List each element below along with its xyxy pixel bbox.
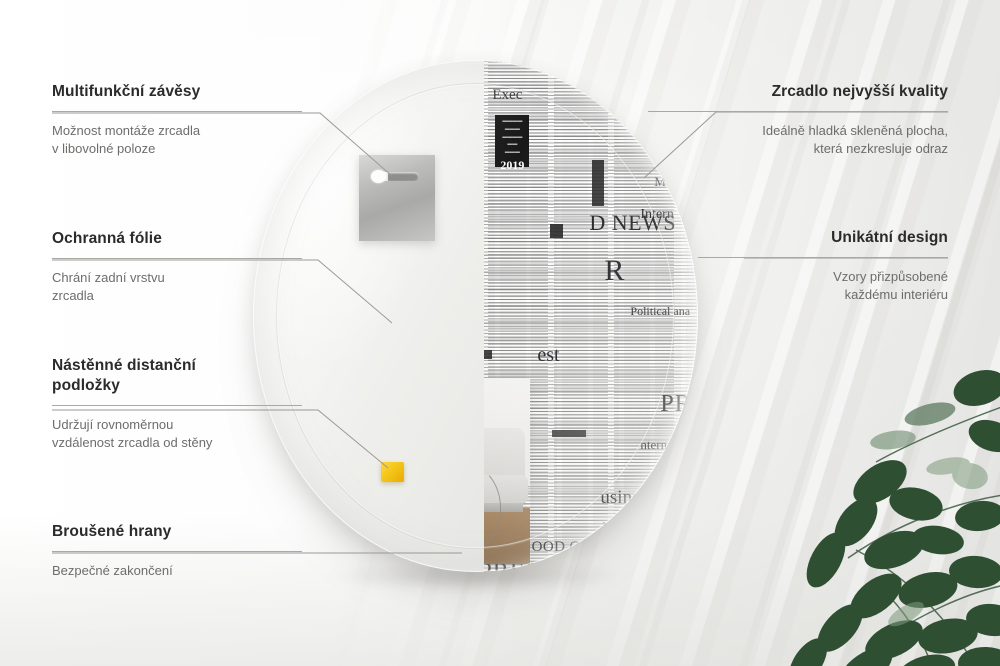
callout-title: Unikátní design bbox=[698, 228, 948, 248]
callout-rule bbox=[52, 111, 302, 112]
news-headline-marketan: Market An bbox=[602, 520, 658, 533]
callout-desc: Bezpečné zakončení bbox=[52, 562, 302, 580]
callout-desc-line: Ideálně hladká skleněná plocha, bbox=[648, 122, 948, 140]
keyhole-slot-icon bbox=[371, 172, 419, 181]
callout-wall-spacers: Nástěnné distanční podložky Udržují rovn… bbox=[52, 356, 302, 453]
news-headline-market: Market A bbox=[654, 175, 698, 188]
yellow-spacer-pad-icon bbox=[381, 462, 404, 482]
callout-title-line: Nástěnné distanční bbox=[52, 356, 302, 376]
callout-desc: Vzory přizpůsobené každému interiéru bbox=[698, 268, 948, 305]
callout-rule bbox=[52, 551, 302, 552]
callout-ground-edges: Broušené hrany Bezpečné zakončení bbox=[52, 522, 302, 580]
news-block-2019: ▬▬▬▬▬▬▬▬▬▬▬▬▬▬▬▬ 2019 bbox=[495, 115, 529, 167]
news-year-label: 2019 bbox=[495, 158, 529, 173]
callout-desc-line: každému interiéru bbox=[698, 286, 948, 304]
callout-desc-line: Udržují rovnoměrnou bbox=[52, 416, 302, 434]
callout-desc: Udržují rovnoměrnou vzdálenost zrcadla o… bbox=[52, 416, 302, 453]
callout-title: Zrcadlo nejvyšší kvality bbox=[648, 82, 948, 102]
callout-desc: Možnost montáže zrcadla v libovolné polo… bbox=[52, 122, 302, 159]
news-headline-r: R bbox=[604, 256, 624, 286]
callout-multifunctional-hangers: Multifunkční závěsy Možnost montáže zrca… bbox=[52, 82, 302, 159]
news-headline-business: usiness di bbox=[600, 488, 674, 507]
callout-title: Ochranná fólie bbox=[52, 229, 302, 249]
callout-desc: Ideálně hladká skleněná plocha, která ne… bbox=[648, 122, 948, 159]
news-headline-est: est bbox=[537, 345, 559, 365]
callout-rule bbox=[52, 405, 302, 406]
wall-hanger-plate-icon bbox=[359, 155, 435, 241]
callout-desc-line: zrcadla bbox=[52, 287, 302, 305]
callout-title: Broušené hrany bbox=[52, 522, 302, 542]
callout-desc-line: Chrání zadní vrstvu bbox=[52, 269, 302, 287]
callout-rule bbox=[52, 258, 302, 259]
callout-rule bbox=[648, 111, 948, 112]
foliage-branch-icon bbox=[680, 344, 1000, 666]
callout-protective-film: Ochranná fólie Chrání zadní vrstvu zrcad… bbox=[52, 229, 302, 306]
news-headline-goodoldnews: GOOD OLD NEWS bbox=[520, 540, 649, 555]
callout-title-line: podložky bbox=[52, 376, 302, 396]
callout-desc-line: která nezkresluje odraz bbox=[648, 140, 948, 158]
news-headline-intern: Intern bbox=[640, 208, 673, 222]
callout-rule bbox=[698, 257, 948, 258]
callout-desc-line: v libovolné poloze bbox=[52, 140, 302, 158]
product-mirror: ▬▬▬▬▬▬▬▬▬▬▬▬▬▬▬▬ 2019 digest Exec D NEWS… bbox=[253, 60, 698, 572]
callout-desc-line: Vzory přizpůsobené bbox=[698, 268, 948, 286]
news-headline-exec: Exec bbox=[492, 88, 522, 103]
callout-desc-line: Bezpečné zakončení bbox=[52, 562, 302, 580]
infographic-canvas: ▬▬▬▬▬▬▬▬▬▬▬▬▬▬▬▬ 2019 digest Exec D NEWS… bbox=[0, 0, 1000, 666]
mirror-body: ▬▬▬▬▬▬▬▬▬▬▬▬▬▬▬▬ 2019 digest Exec D NEWS… bbox=[253, 60, 698, 572]
callout-desc-line: Možnost montáže zrcadla bbox=[52, 122, 302, 140]
callout-title: Multifunkční závěsy bbox=[52, 82, 302, 102]
callout-desc-line: vzdálenost zrcadla od stěny bbox=[52, 434, 302, 452]
sofa-reflection-photo bbox=[484, 378, 530, 564]
callout-top-quality-mirror: Zrcadlo nejvyšší kvality Ideálně hladká … bbox=[648, 82, 948, 159]
callout-desc: Chrání zadní vrstvu zrcadla bbox=[52, 269, 302, 306]
news-headline-political: Political ana bbox=[630, 305, 690, 317]
callout-unique-design: Unikátní design Vzory přizpůsobené každé… bbox=[698, 228, 948, 305]
callout-title: Nástěnné distanční podložky bbox=[52, 356, 302, 396]
